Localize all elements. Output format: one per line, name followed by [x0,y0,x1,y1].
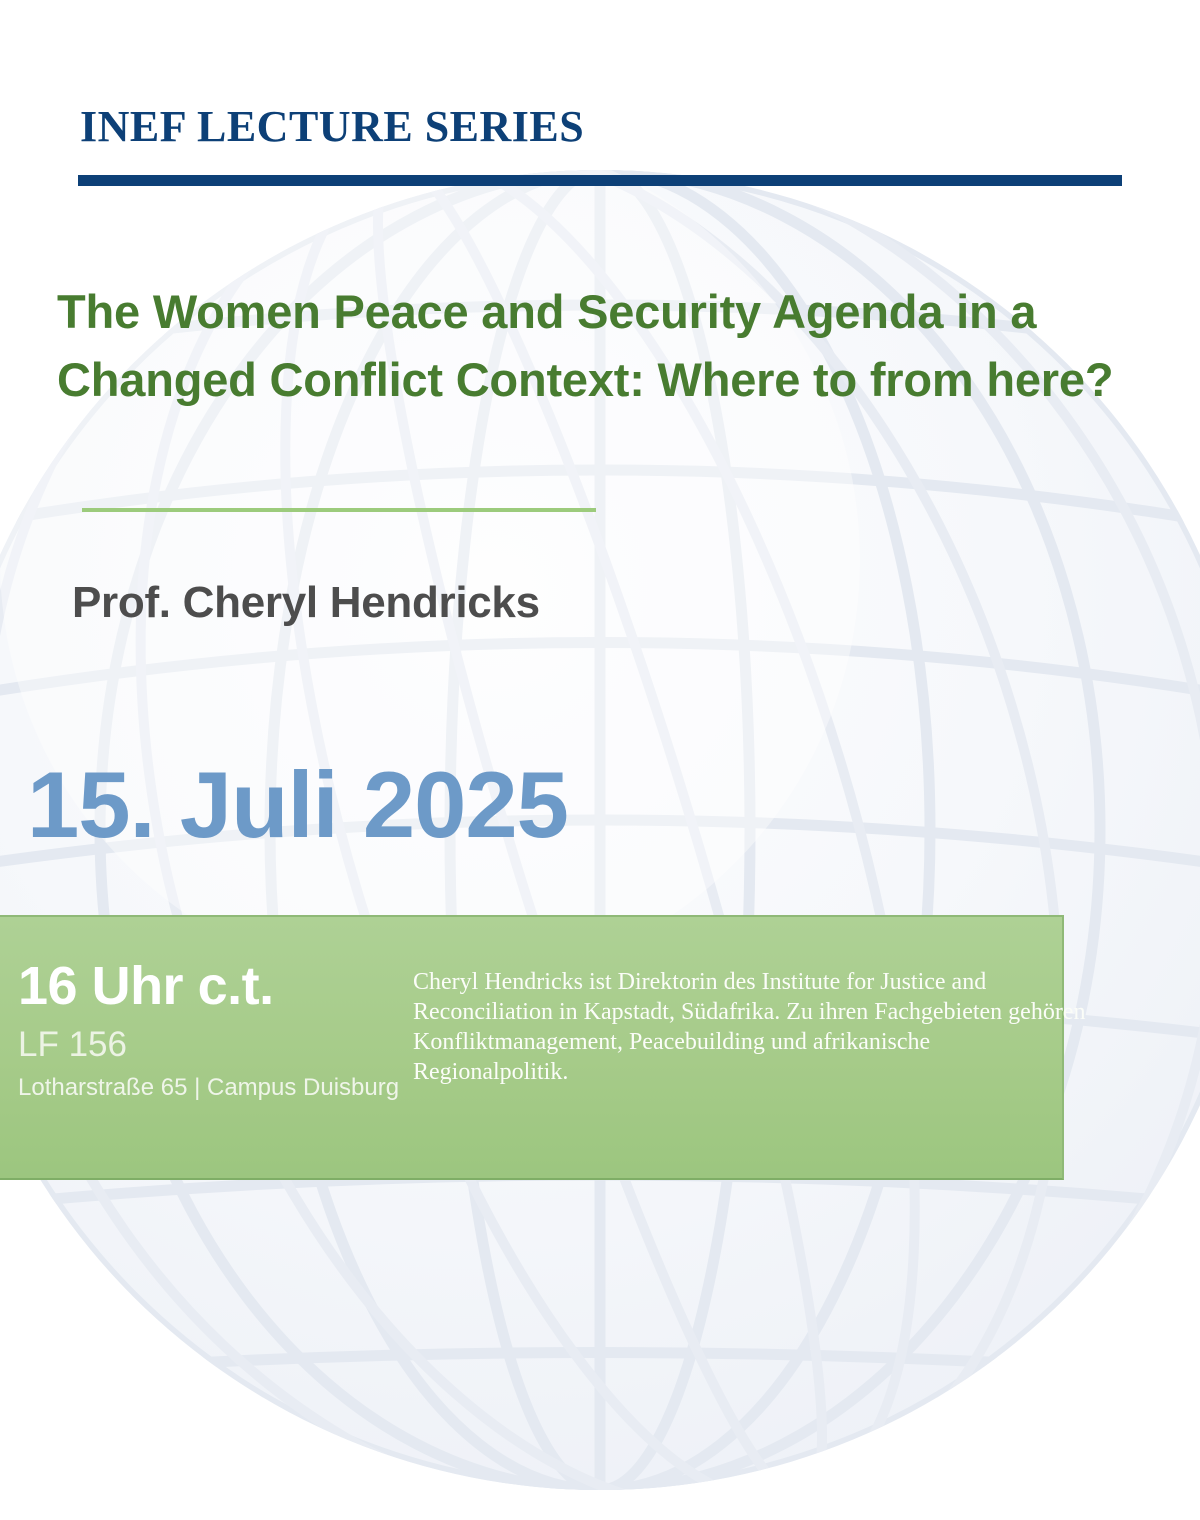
lecture-poster: INEF LECTURE SERIES The Women Peace and … [0,0,1200,1520]
event-info-panel: 16 Uhr c.t. LF 156 Lotharstraße 65 | Cam… [0,915,1064,1180]
event-address: Lotharstraße 65 | Campus Duisburg [18,1074,398,1102]
speaker-name: Prof. Cheryl Hendricks [72,578,540,628]
poster-content: INEF LECTURE SERIES The Women Peace and … [0,0,1200,1520]
event-time: 16 Uhr c.t. [18,958,398,1014]
header-divider-rule [78,175,1122,186]
series-header-title: INEF LECTURE SERIES [80,101,584,152]
event-room: LF 156 [18,1026,398,1064]
event-logistics-block: 16 Uhr c.t. LF 156 Lotharstraße 65 | Cam… [18,958,398,1102]
title-divider-rule [82,508,596,512]
speaker-bio: Cheryl Hendricks ist Direktorin des Inst… [413,967,1091,1087]
lecture-title: The Women Peace and Security Agenda in a… [57,278,1127,414]
event-date: 15. Juli 2025 [27,751,568,859]
